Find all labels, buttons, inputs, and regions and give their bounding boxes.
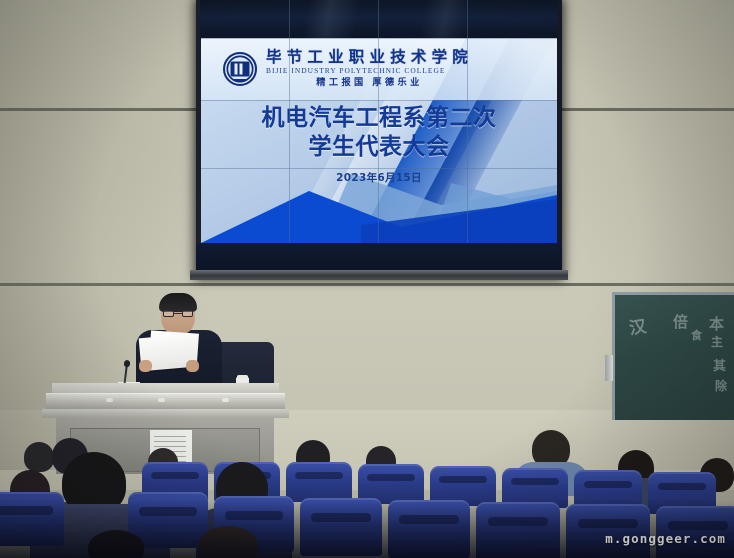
slide-header-texts: 毕节工业职业技术学院 BIJIE INDUSTRY POLYTECHNIC CO…	[266, 50, 473, 88]
speaker-left-hand	[139, 360, 152, 372]
screen-metal-trim	[190, 270, 568, 280]
chalk-mark-5: 主	[711, 333, 723, 350]
chalkboard-rail	[605, 355, 613, 381]
audience-head-far-1	[24, 442, 54, 472]
chalk-mark-2: 倍	[673, 311, 688, 332]
slide-title-block: 机电汽车工程系第二次 学生代表大会 2023年6月15日	[201, 104, 557, 185]
conference-hall-screenshot: 毕节工业职业技术学院 BIJIE INDUSTRY POLYTECHNIC CO…	[0, 0, 734, 558]
slide-date: 2023年6月15日	[201, 170, 557, 185]
slide-title-line-1: 机电汽车工程系第二次	[201, 104, 557, 133]
podium-knob-1	[106, 398, 113, 402]
college-motto: 精工报国 厚德乐业	[266, 78, 473, 88]
chalk-mark-4: 本	[709, 313, 724, 334]
seat-far-3	[286, 462, 352, 502]
chalk-mark-1: 汉	[627, 312, 647, 339]
college-seal-logo-icon	[223, 52, 257, 86]
watermark: m.gonggeer.com	[605, 531, 726, 546]
institution-name-en: BIJIE INDUSTRY POLYTECHNIC COLLEGE	[266, 67, 473, 75]
podium-knob-3	[222, 398, 229, 402]
institution-name-cn: 毕节工业职业技术学院	[266, 50, 473, 66]
speaker-right-hand	[186, 360, 199, 372]
slide-title-line-2: 学生代表大会	[201, 133, 557, 162]
screen-dark-upper-panels	[200, 0, 558, 40]
podium-desk-apron	[42, 409, 289, 418]
slide-header-band: 毕节工业职业技术学院 BIJIE INDUSTRY POLYTECHNIC CO…	[201, 38, 557, 100]
foreground-shadow	[0, 500, 734, 558]
chalk-mark-3: 食	[691, 327, 702, 343]
green-chalkboard: 汉 倍 食 本 主 其 除	[612, 292, 734, 420]
chalk-mark-6: 其	[713, 355, 726, 374]
presentation-slide: 毕节工业职业技术学院 BIJIE INDUSTRY POLYTECHNIC CO…	[201, 38, 557, 243]
speaker-glasses	[163, 310, 193, 317]
screen-bottom-dark-band	[196, 243, 562, 272]
chalk-mark-7: 除	[715, 377, 727, 394]
speaker-papers-front	[149, 330, 199, 363]
podium-knob-2	[158, 398, 165, 402]
